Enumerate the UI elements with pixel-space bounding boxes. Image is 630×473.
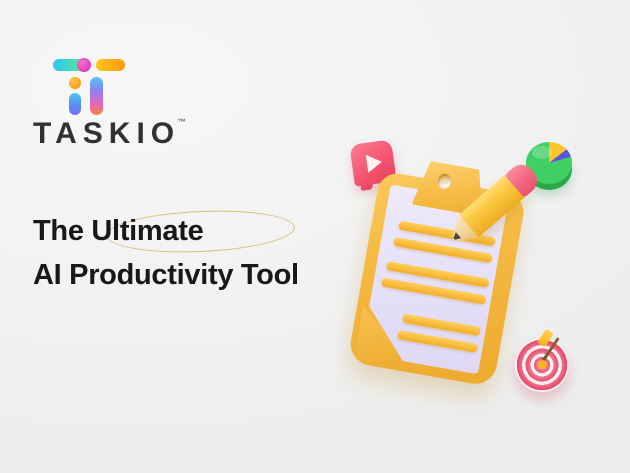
brand-wordmark-text: TASKIO: [33, 117, 180, 150]
trademark-symbol: ™: [177, 117, 186, 127]
taskio-logo-mark-icon: [53, 52, 123, 112]
logo-dot-magenta: [77, 58, 91, 72]
brand-block: TASKIO™: [33, 52, 193, 157]
pie-chart-gloss: [532, 146, 552, 159]
logo-bar-right: [96, 59, 125, 71]
logo-dot-orange: [69, 77, 81, 89]
logo-capsule-tall: [90, 77, 103, 115]
logo-capsule-blue: [69, 93, 81, 115]
dartboard-icon: [515, 338, 569, 392]
headline-line-2-text: AI Productivity Tool: [33, 259, 299, 291]
dart-tip-icon: [538, 360, 547, 369]
promo-banner: TASKIO™ The Ultimate AI Productivity Too…: [0, 0, 630, 473]
brand-wordmark: TASKIO™: [33, 119, 189, 149]
headline-line-1-text: The Ultimate: [33, 215, 203, 247]
illustration-group: [330, 120, 630, 420]
